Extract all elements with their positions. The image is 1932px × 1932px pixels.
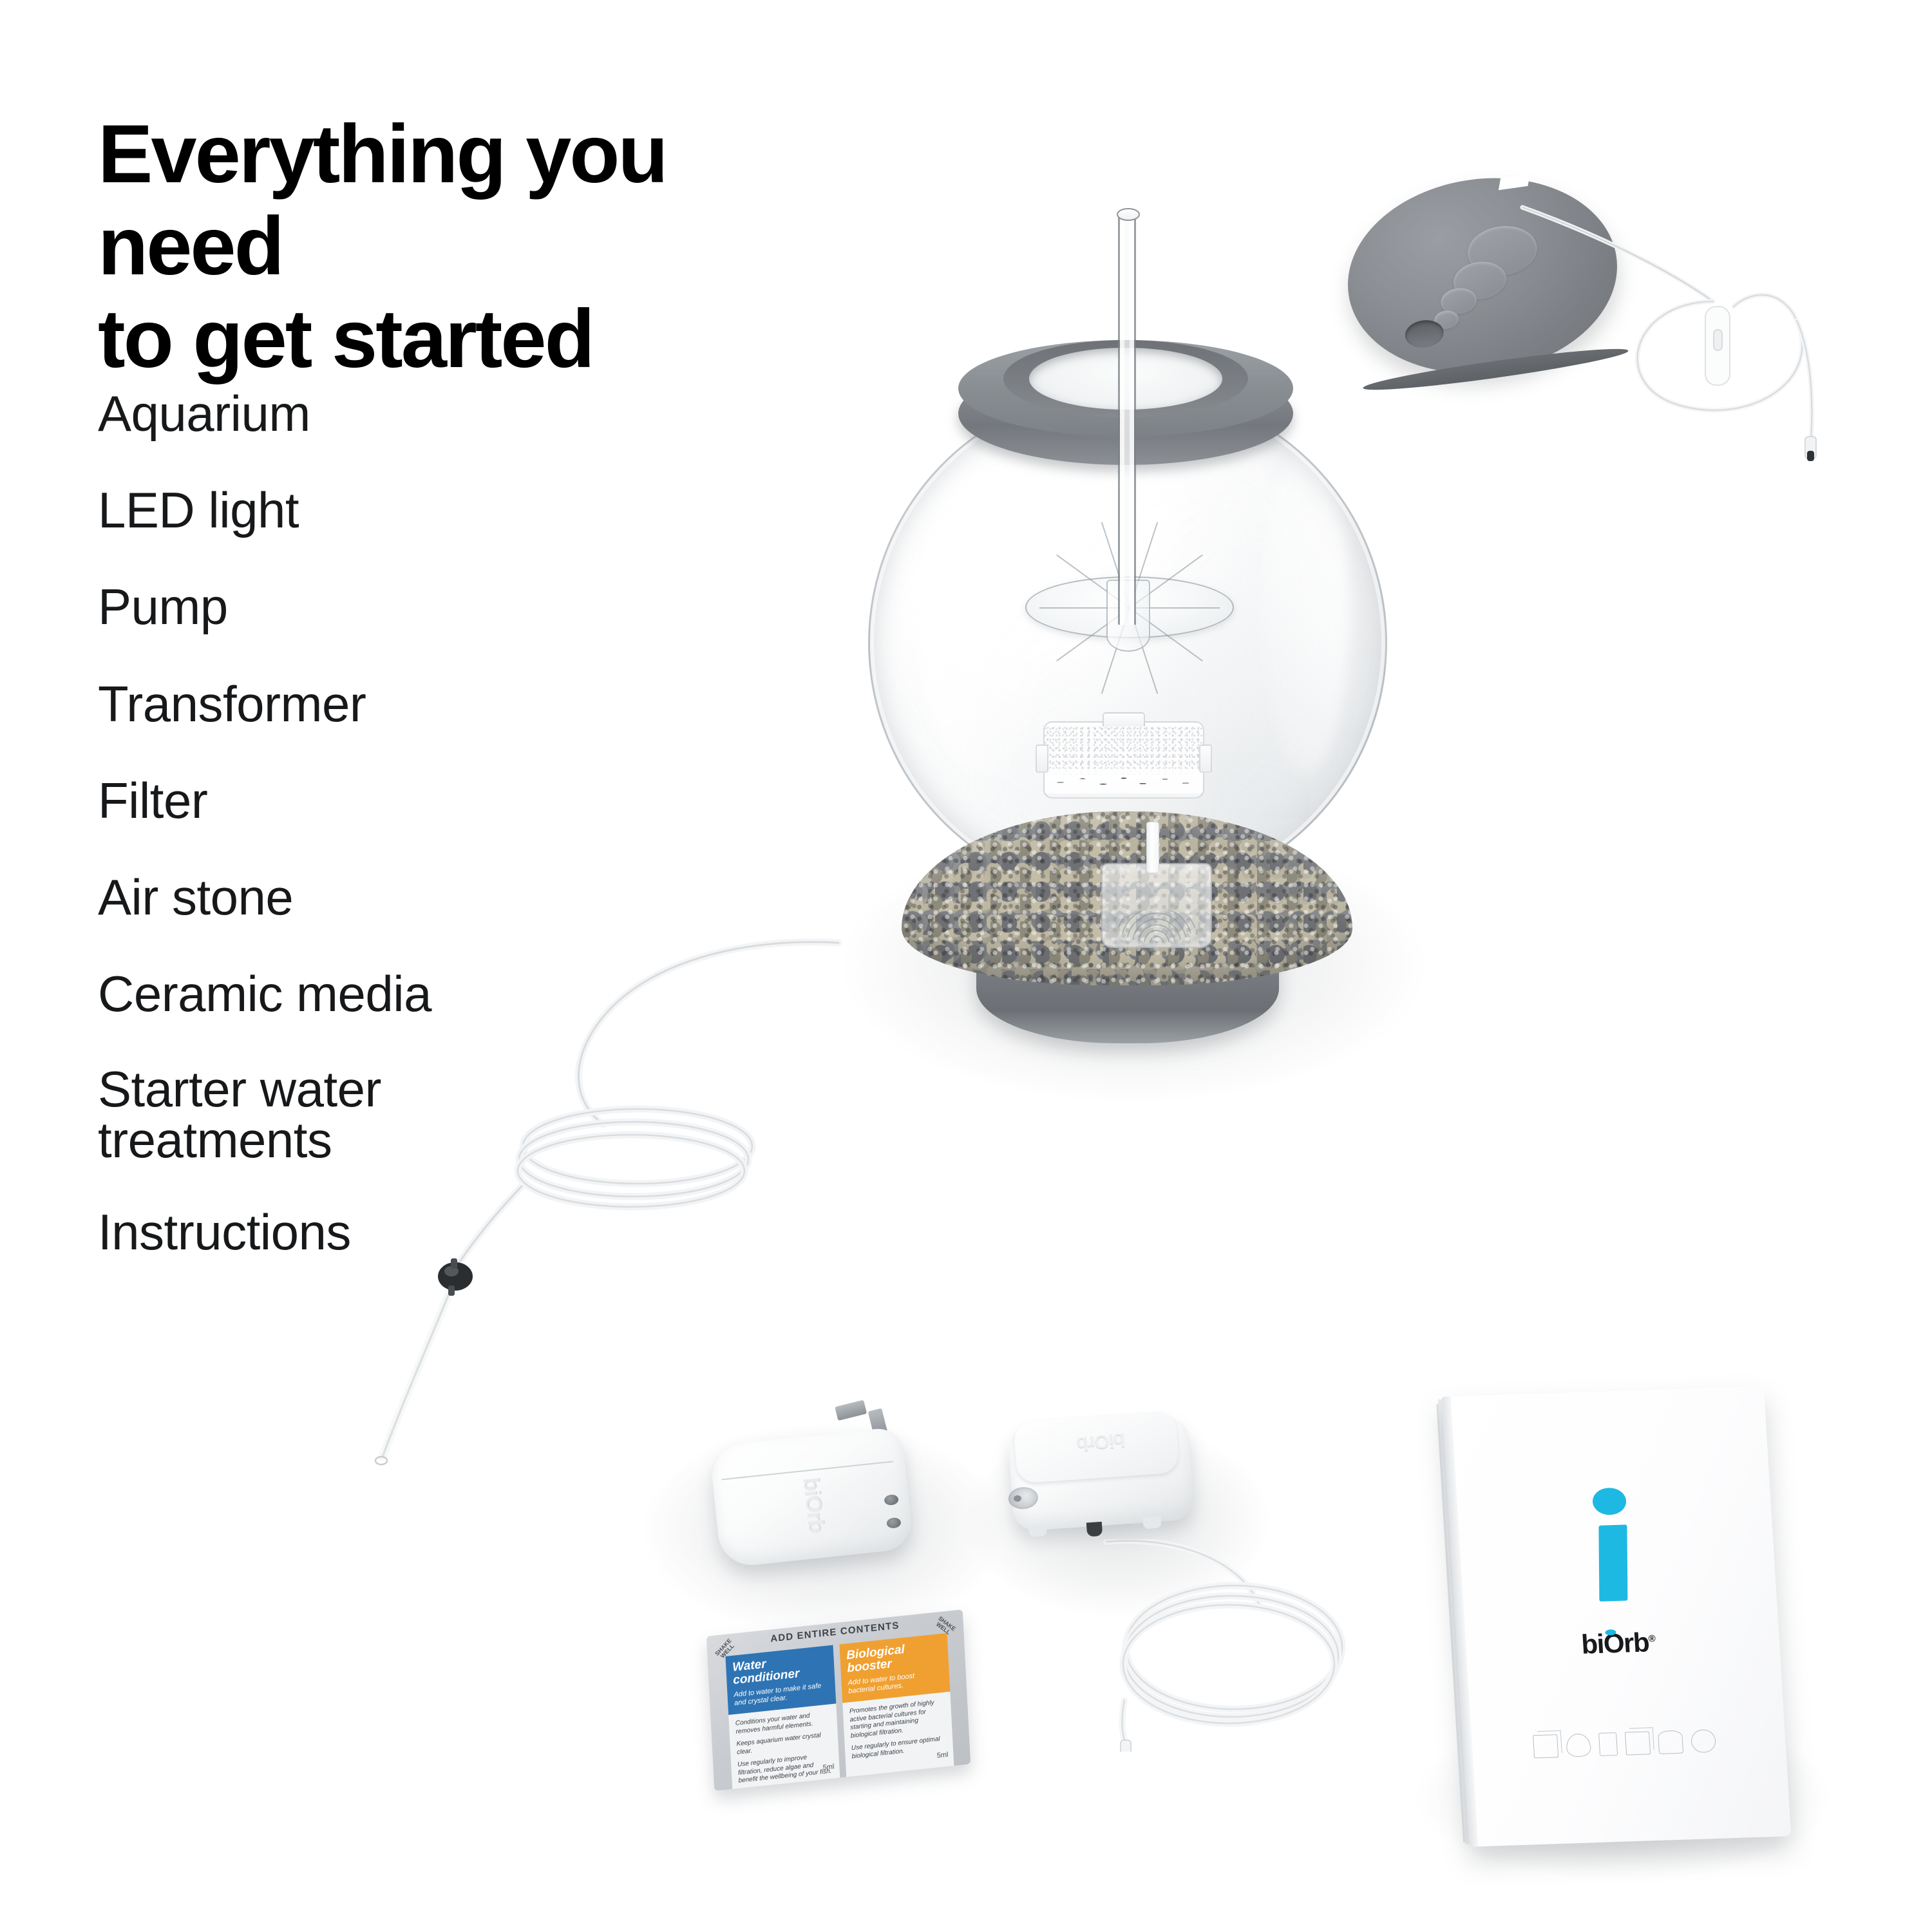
filter-cartridge-body — [1043, 721, 1204, 799]
one-way-valve — [438, 1258, 473, 1296]
led-cord-notch — [1499, 174, 1530, 190]
transformer-seam — [721, 1461, 893, 1480]
product-icon-cube-small — [1624, 1731, 1650, 1755]
filter-carbon-layer — [1045, 769, 1203, 793]
sachet-left-header: Water conditioner Add to water to make i… — [725, 1645, 836, 1715]
sachet-left-volume: 5ml — [822, 1763, 834, 1772]
air-stone-stem — [1146, 822, 1159, 873]
info-icon-stem — [1598, 1524, 1627, 1601]
wordmark-suffix: rb — [1623, 1627, 1650, 1658]
filter-clip-right — [1199, 744, 1212, 773]
air-pump-tubing-coil — [1082, 1539, 1378, 1752]
poster-canvas: Everything you need to get started Aquar… — [0, 0, 1932, 1932]
transformer-body: biOrb — [709, 1426, 914, 1568]
air-pump-foot-left — [1028, 1524, 1047, 1537]
sachet-left-title: Water conditioner — [732, 1651, 828, 1687]
basket-grid — [1118, 909, 1195, 943]
led-power-cord — [1520, 193, 1855, 464]
filter-media — [1045, 726, 1203, 775]
air-pump-outlet-nozzle — [1008, 1486, 1039, 1510]
info-icon — [1592, 1488, 1633, 1602]
sachet-water-conditioner: Water conditioner Add to water to make i… — [725, 1645, 839, 1780]
dc-connector — [1805, 437, 1816, 461]
wordmark-o: O — [1602, 1628, 1624, 1660]
product-icon-flat-round — [1566, 1733, 1591, 1757]
riser-tube-top — [1117, 208, 1140, 221]
sachet-left-body: Conditions your water and removes harmfu… — [728, 1704, 840, 1791]
biorb-wordmark: biOrb® — [1456, 1623, 1780, 1664]
transformer-socket-top — [884, 1494, 899, 1506]
booklet-spine — [1442, 1396, 1479, 1846]
sachet-left-body-3: Use regularly to improve filtration, red… — [737, 1752, 833, 1786]
product-range-icons — [1463, 1727, 1786, 1761]
product-icon-cube — [1533, 1734, 1558, 1758]
sachet-right-title: Biological booster — [846, 1640, 942, 1675]
registered-mark: ® — [1648, 1633, 1655, 1644]
biorb-logo-transformer: biOrb — [797, 1477, 828, 1534]
info-icon-dot — [1592, 1488, 1627, 1516]
sachet-right-volume: 5ml — [936, 1751, 948, 1760]
air-pump-foot-center — [1086, 1522, 1103, 1537]
instructions-booklet: biOrb® — [1442, 1386, 1792, 1846]
filter-clip-left — [1036, 744, 1048, 773]
product-icon-cylinder — [1657, 1730, 1683, 1754]
inline-switch — [1705, 307, 1730, 385]
air-pump-lid: biOrb — [1014, 1410, 1180, 1483]
wordmark-prefix: bi — [1580, 1629, 1604, 1660]
transformer-socket-bottom — [886, 1517, 902, 1529]
filter-tab — [1103, 712, 1145, 726]
sachet-right-body: Promotes the growth of highly active bac… — [842, 1692, 954, 1779]
air-pump-foot-right — [1142, 1516, 1161, 1529]
air-stone-airline — [361, 934, 850, 1488]
riser-tube — [1118, 213, 1136, 625]
filter-cartridge — [1043, 721, 1204, 799]
transformer-plug: biOrb — [709, 1426, 914, 1568]
product-icon-tube — [1598, 1732, 1617, 1756]
starter-water-treatment-sachets: ADD ENTIRE CONTENTS SHAKE WELL SHAKE WEL… — [706, 1609, 971, 1791]
sachet-right-header: Biological booster Add to water to boost… — [839, 1633, 950, 1703]
sachet-right-body-1: Promotes the growth of highly active bac… — [849, 1698, 946, 1740]
filter-basket — [1101, 863, 1212, 948]
sachet-biological-booster: Biological booster Add to water to boost… — [839, 1633, 953, 1768]
air-pump: biOrb — [1007, 1404, 1209, 1552]
product-photo: biOrb biOrb — [567, 213, 1893, 1913]
product-icon-sphere — [1690, 1729, 1716, 1753]
biorb-logo-airpump: biOrb — [1075, 1428, 1126, 1455]
tube-end-connector — [1121, 1740, 1131, 1752]
